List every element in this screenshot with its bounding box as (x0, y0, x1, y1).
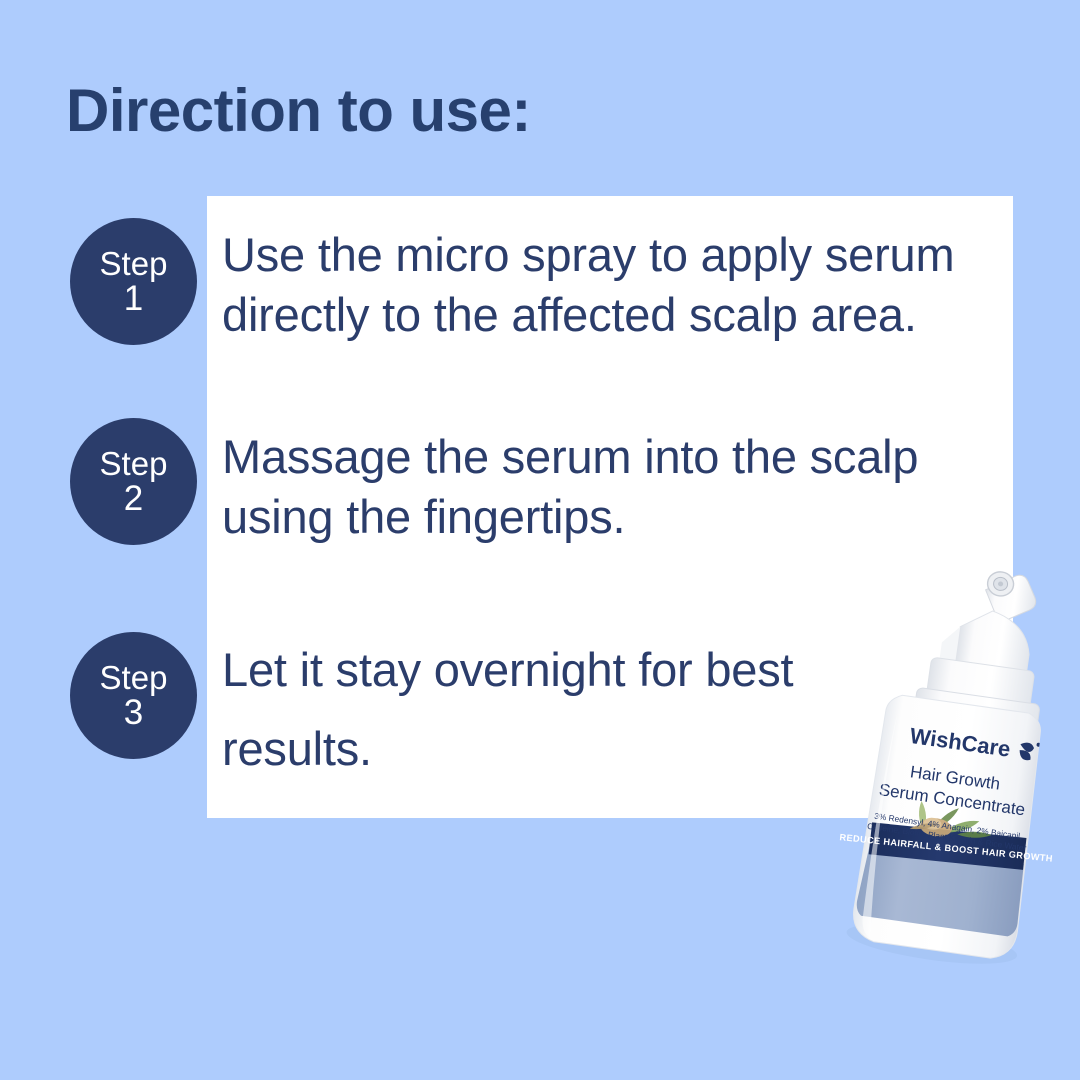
step-badge-number: 1 (124, 281, 143, 316)
step-badge-number: 3 (124, 695, 143, 730)
page-title: Direction to use: (66, 79, 531, 143)
step-badge-label: Step (100, 447, 168, 480)
instruction-graphic: Direction to use: Step 1 Use the micro s… (0, 0, 1080, 1080)
step-badge-2: Step 2 (70, 418, 197, 545)
step-badge-label: Step (100, 247, 168, 280)
step-badge-label: Step (100, 661, 168, 694)
step-text-2: Massage the serum into the scalp using t… (222, 427, 1012, 547)
step-badge-3: Step 3 (70, 632, 197, 759)
step-text-1: Use the micro spray to apply serum direc… (222, 225, 1042, 345)
step-badge-1: Step 1 (70, 218, 197, 345)
step-text-3: Let it stay overnight for best results. (222, 630, 842, 788)
step-badge-number: 2 (124, 481, 143, 516)
